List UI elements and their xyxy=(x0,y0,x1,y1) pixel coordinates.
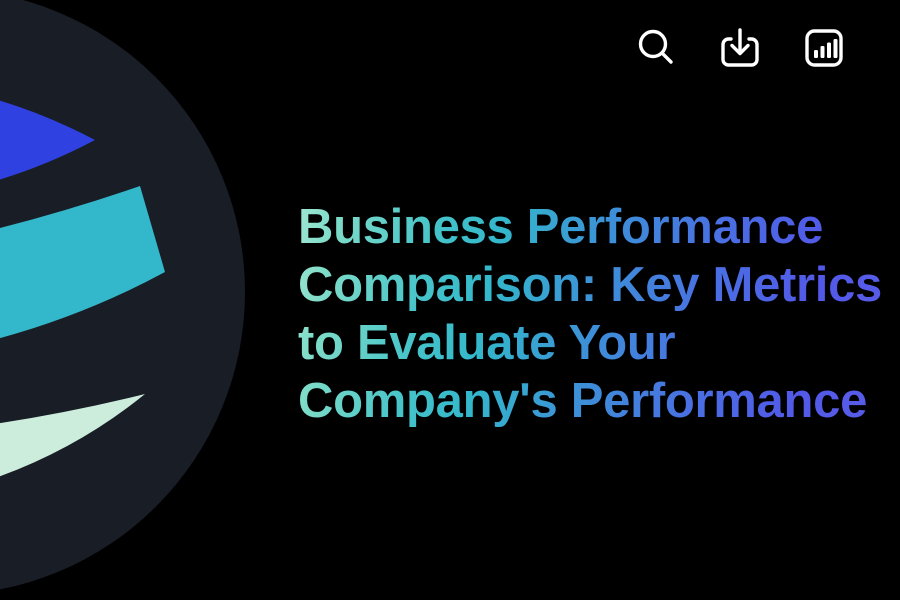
download-icon xyxy=(718,26,762,70)
brand-logo xyxy=(0,0,300,600)
toolbar xyxy=(628,20,852,76)
download-button[interactable] xyxy=(712,20,768,76)
chart-icon xyxy=(802,26,846,70)
search-button[interactable] xyxy=(628,20,684,76)
chart-button[interactable] xyxy=(796,20,852,76)
search-icon xyxy=(634,26,678,70)
page-title: Business Performance Comparison: Key Met… xyxy=(298,198,900,430)
slide-canvas: Business Performance Comparison: Key Met… xyxy=(0,0,900,600)
